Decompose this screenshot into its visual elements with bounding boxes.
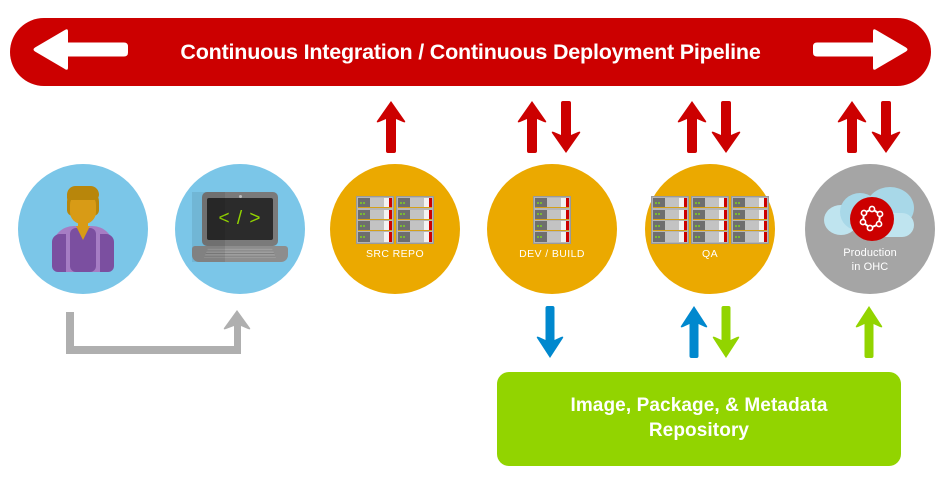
node-workstation[interactable]: < / > (175, 164, 305, 294)
node-label-production-line1: Production (843, 247, 897, 259)
arrow-up-repo-to-production (855, 306, 883, 363)
node-label-qa: QA (702, 248, 718, 261)
arrow-up-production (837, 101, 867, 158)
server-rack-icon (651, 196, 769, 244)
repository-label: Image, Package, & Metadata Repository (570, 394, 827, 443)
developer-to-workstation-connector (66, 308, 256, 365)
server-rack-icon (533, 196, 571, 244)
arrow-up-qa-to-repo (680, 306, 708, 363)
arrow-down-repo-to-qa (712, 306, 740, 363)
arrow-right-icon (813, 28, 909, 77)
node-src-repo[interactable]: SRC REPO (330, 164, 460, 294)
openshift-mark-icon (850, 197, 894, 241)
arrow-down-production (871, 101, 901, 158)
node-label-src-repo: SRC REPO (366, 248, 424, 261)
node-dev-build[interactable]: DEV / BUILD (487, 164, 617, 294)
node-label-dev-build: DEV / BUILD (519, 248, 585, 261)
pipeline-banner: Continuous Integration / Continuous Depl… (10, 18, 931, 86)
node-production[interactable]: Production in OHC (805, 164, 935, 294)
cicd-pipeline-diagram: Continuous Integration / Continuous Depl… (0, 0, 941, 500)
node-label-production: Production in OHC (843, 247, 897, 275)
arrow-up-qa (677, 101, 707, 158)
node-qa[interactable]: QA (645, 164, 775, 294)
node-developer[interactable] (18, 164, 148, 294)
person-icon (46, 186, 120, 272)
arrow-up-dev-build (517, 101, 547, 158)
arrow-down-dev-build-to-repo (536, 306, 564, 363)
repository-box[interactable]: Image, Package, & Metadata Repository (497, 372, 901, 466)
node-label-production-line2: in OHC (852, 261, 889, 273)
arrow-down-dev-build (551, 101, 581, 158)
repository-label-line1: Image, Package, & Metadata (570, 395, 827, 416)
arrow-down-qa (711, 101, 741, 158)
laptop-code-icon: < / > (192, 192, 288, 266)
code-glyph: < / > (218, 208, 261, 230)
server-rack-icon (356, 196, 434, 244)
arrow-left-icon (32, 28, 128, 77)
page-title: Continuous Integration / Continuous Depl… (180, 40, 760, 65)
repository-label-line2: Repository (649, 420, 749, 441)
arrow-up-src-repo (376, 101, 406, 158)
cloud-openshift-icon (822, 183, 918, 243)
